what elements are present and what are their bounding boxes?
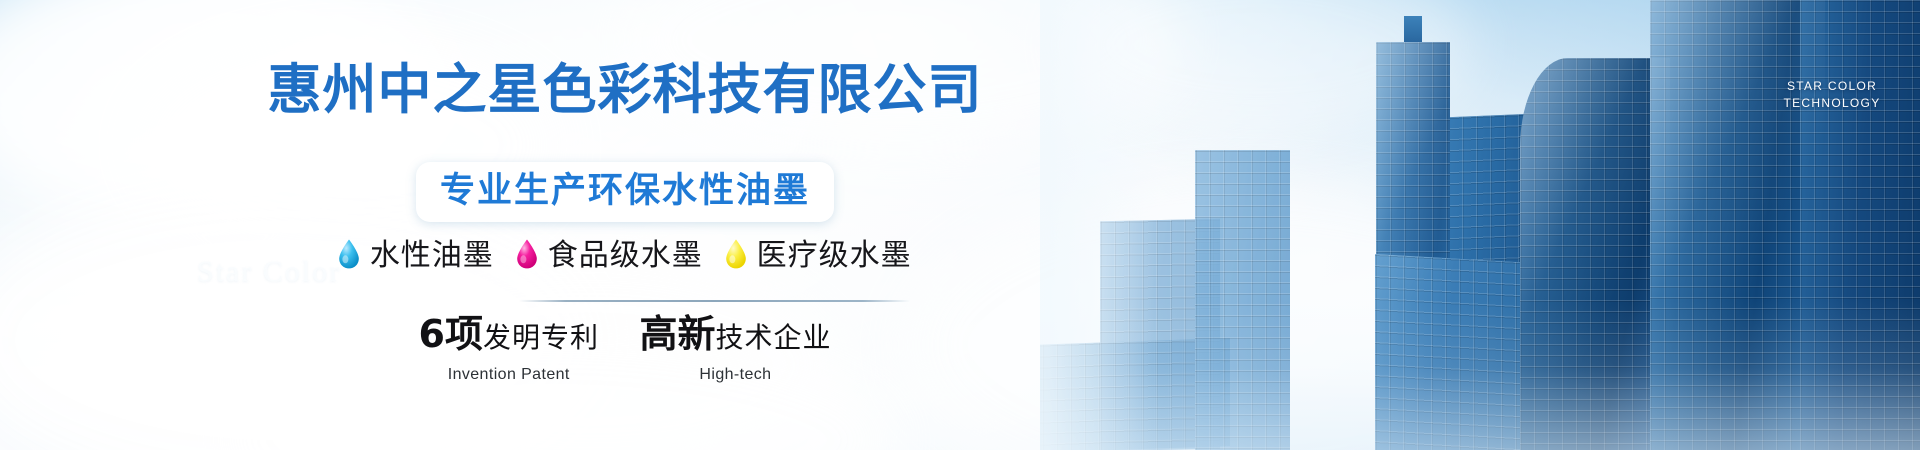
credential-english: High-tech	[639, 365, 831, 385]
ink-product-item: 水性油墨	[338, 237, 493, 275]
building-brand-line-1: STAR COLOR	[1762, 78, 1902, 95]
credential-rest: 技术企业	[715, 321, 831, 354]
credential-highlight: 6项	[419, 312, 483, 356]
credential-rest: 发明专利	[483, 321, 599, 354]
banner-content: 惠州中之星色彩科技有限公司 专业生产环保水性油墨	[0, 0, 1250, 450]
credential-item-patent: 6项发明专利 Invention Patent	[419, 312, 599, 385]
section-divider	[519, 300, 910, 302]
ink-product-label: 水性油墨	[370, 237, 494, 275]
ink-product-list: 水性油墨	[0, 237, 1250, 275]
tagline-container: 专业生产环保水性油墨	[0, 162, 1250, 222]
credential-list: 6项发明专利 Invention Patent 高新技术企业 High-tech	[0, 312, 1250, 385]
credential-item-hightech: 高新技术企业 High-tech	[639, 312, 831, 385]
building-brand-line-2: TECHNOLOGY	[1762, 95, 1902, 112]
credential-chinese: 高新技术企业	[639, 312, 831, 364]
building-slim-spire	[1404, 16, 1422, 42]
promo-banner: ★ Star Color STAR COLOR TECHNOLOGY 惠州中之星…	[0, 0, 1920, 450]
ink-product-label: 医疗级水墨	[757, 237, 912, 275]
water-drop-icon	[725, 239, 747, 274]
company-title: 惠州中之星色彩科技有限公司	[0, 58, 1250, 122]
credential-english: Invention Patent	[419, 365, 599, 385]
tagline-pill: 专业生产环保水性油墨	[416, 162, 834, 222]
water-drop-icon	[516, 239, 538, 274]
building-brand-text: STAR COLOR TECHNOLOGY	[1762, 78, 1902, 112]
credential-chinese: 6项发明专利	[419, 312, 599, 364]
credential-highlight: 高新	[639, 312, 715, 356]
ink-product-item: 医疗级水墨	[725, 237, 911, 275]
ink-product-item: 食品级水墨	[516, 237, 702, 275]
ink-product-label: 食品级水墨	[548, 237, 703, 275]
water-drop-icon	[338, 239, 360, 274]
